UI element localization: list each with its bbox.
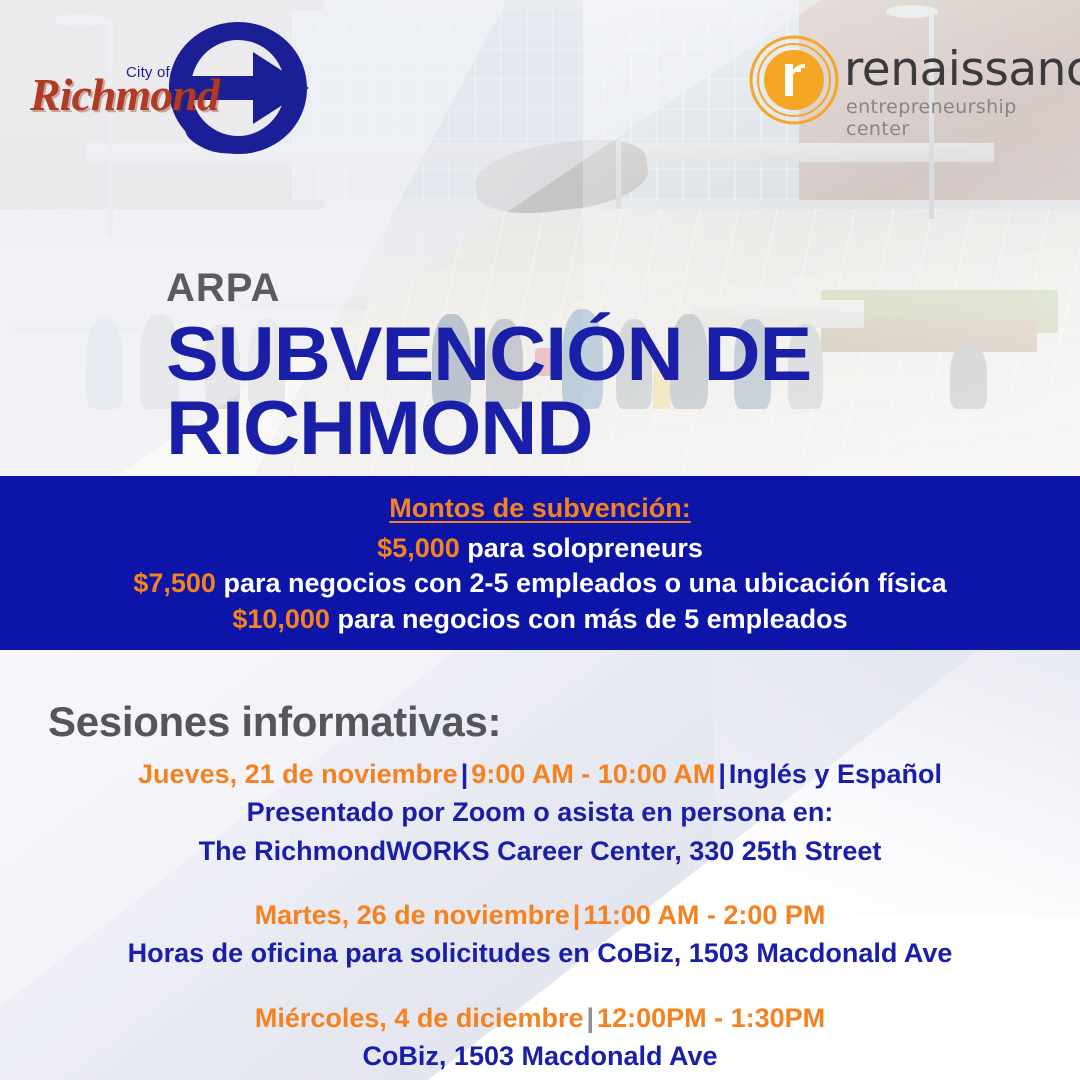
city-of-richmond-logo: City of Richmond [18,18,318,158]
session-separator: | [458,759,472,789]
session-when-line: Miércoles, 4 de diciembre|12:00PM - 1:30… [0,999,1080,1037]
session-when-line: Jueves, 21 de noviembre|9:00 AM - 10:00 … [0,755,1080,793]
info-sessions-section: Sesiones informativas: Jueves, 21 de nov… [0,650,1080,1080]
session-item: Jueves, 21 de noviembre|9:00 AM - 10:00 … [0,755,1080,870]
grant-tier-description: para negocios con más de 5 empleados [337,604,847,634]
session-detail-line: CoBiz, 1503 Macdonald Ave [0,1037,1080,1075]
grant-amounts-band: Montos de subvención: $5,000 para solopr… [0,476,1080,650]
renaissance-logo: renaissance entrepreneurship center [748,32,1066,128]
session-date: Martes, 26 de noviembre [255,900,570,930]
grant-tier-row: $5,000 para solopreneurs [377,531,703,567]
grant-tier-amount: $5,000 [377,533,460,563]
grant-tier-description: para solopreneurs [467,533,703,563]
grant-tier-amount: $7,500 [133,568,216,598]
grant-tier-amount: $10,000 [232,604,330,634]
session-separator: | [583,1003,597,1033]
sessions-list: Jueves, 21 de noviembre|9:00 AM - 10:00 … [0,755,1080,1075]
session-date: Miércoles, 4 de diciembre [255,1003,584,1033]
session-separator: | [715,759,729,789]
session-time: 9:00 AM - 10:00 AM [471,759,715,789]
session-item: Miércoles, 4 de diciembre|12:00PM - 1:30… [0,999,1080,1076]
session-item: Martes, 26 de noviembre|11:00 AM - 2:00 … [0,896,1080,973]
hero-headline-line-2: RICHMOND [166,392,811,466]
renaissance-tagline: entrepreneurship center [846,96,1066,140]
renaissance-r-circle-icon [748,34,840,126]
session-date: Jueves, 21 de noviembre [138,759,458,789]
session-detail-line: The RichmondWORKS Career Center, 330 25t… [0,832,1080,870]
hero-headline: SUBVENCIÓN DE RICHMOND [166,318,811,467]
grant-tier-row: $7,500 para negocios con 2-5 empleados o… [133,566,946,602]
session-when-line: Martes, 26 de noviembre|11:00 AM - 2:00 … [0,896,1080,934]
grant-tier-row: $10,000 para negocios con más de 5 emple… [232,602,847,638]
hero-eyebrow: ARPA [166,268,786,308]
renaissance-wordmark: renaissance [844,46,1080,93]
session-detail-line: Horas de oficina para solicitudes en CoB… [0,934,1080,972]
sessions-heading: Sesiones informativas: [48,698,501,746]
hero-section: City of Richmond renaissance entrepreneu… [0,0,1080,476]
session-time: 12:00PM - 1:30PM [597,1003,825,1033]
grant-amounts-title: Montos de subvención: [389,493,691,524]
grant-tier-description: para negocios con 2-5 empleados o una ub… [223,568,946,598]
session-detail-line: Presentado por Zoom o asista en persona … [0,793,1080,831]
session-time: 11:00 AM - 2:00 PM [583,900,825,930]
session-separator: | [570,900,584,930]
session-language: Inglés y Español [729,759,942,789]
hero-headline-line-1: SUBVENCIÓN DE [166,318,811,392]
richmond-wordmark: Richmond [30,68,219,121]
arpa-richmond-grant-flyer: City of Richmond renaissance entrepreneu… [0,0,1080,1080]
hero-title-group: ARPA SUBVENCIÓN DE RICHMOND [166,268,786,467]
